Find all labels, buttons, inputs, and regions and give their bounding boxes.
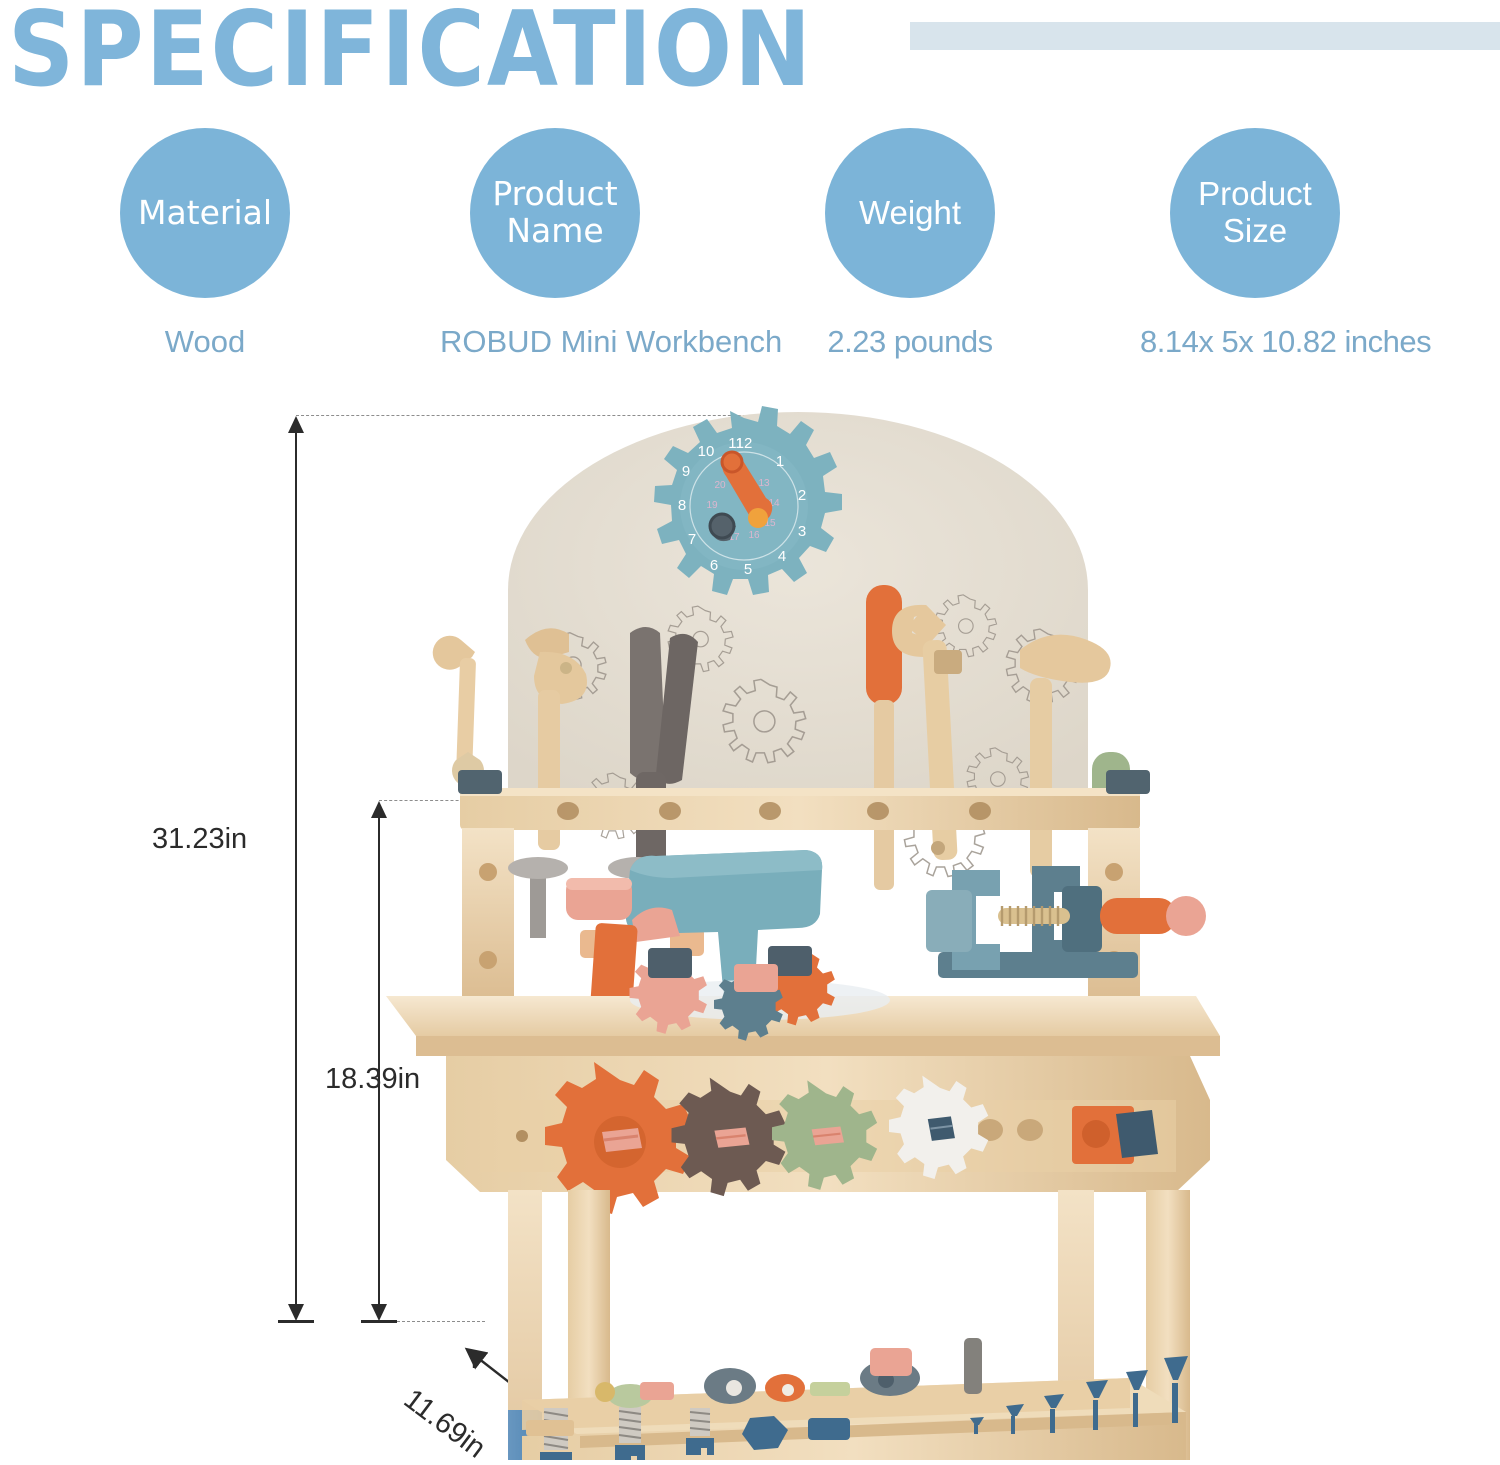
svg-text:9: 9 <box>682 463 690 480</box>
dimension-baseline-tick-left <box>278 1320 314 1323</box>
spec-circle-product-name: Product Name <box>470 128 640 298</box>
spec-item-material: Material Wood <box>90 128 320 360</box>
title-accent-bar <box>910 22 1500 50</box>
spec-circle-product-size: Product Size <box>1170 128 1340 298</box>
page-title: SPECIFICATION <box>8 0 813 110</box>
svg-text:6: 6 <box>710 557 718 574</box>
dimension-total-height-label: 31.23in <box>152 823 247 856</box>
spec-value-product-name: ROBUD Mini Workbench <box>440 324 670 360</box>
svg-text:1: 1 <box>776 453 784 470</box>
svg-text:20: 20 <box>714 480 726 491</box>
svg-text:3: 3 <box>798 523 806 540</box>
svg-text:7: 7 <box>688 531 696 548</box>
spec-value-material: Wood <box>90 324 320 360</box>
spec-value-product-size: 8.14x 5x 10.82 inches <box>1140 324 1370 360</box>
product-image-workbench: 1212 345 678 91011 241314 151617 181920 <box>330 400 1280 1460</box>
bench-apron <box>446 1056 1210 1214</box>
spec-item-product-name: Product Name ROBUD Mini Workbench <box>440 128 670 360</box>
svg-text:16: 16 <box>748 530 760 541</box>
apron-block-orange <box>1072 1106 1158 1164</box>
wrench-icon <box>433 636 484 787</box>
svg-text:4: 4 <box>778 548 786 565</box>
spec-circle-weight: Weight <box>825 128 995 298</box>
svg-text:2: 2 <box>798 487 806 504</box>
spec-item-weight: Weight 2.23 pounds <box>795 128 1025 360</box>
spec-value-weight: 2.23 pounds <box>795 324 1025 360</box>
svg-text:13: 13 <box>758 478 770 489</box>
dimension-total-height-arrow-bottom <box>288 1304 304 1321</box>
svg-text:10: 10 <box>698 443 715 460</box>
spec-item-product-size: Product Size 8.14x 5x 10.82 inches <box>1140 128 1370 360</box>
vise-icon <box>926 866 1206 978</box>
svg-text:5: 5 <box>744 561 752 578</box>
top-rail <box>460 788 1140 830</box>
svg-text:8: 8 <box>678 497 686 514</box>
svg-text:19: 19 <box>706 500 718 511</box>
dimension-total-height-line <box>295 424 297 1310</box>
svg-text:11: 11 <box>728 435 744 452</box>
spec-circle-material: Material <box>120 128 290 298</box>
